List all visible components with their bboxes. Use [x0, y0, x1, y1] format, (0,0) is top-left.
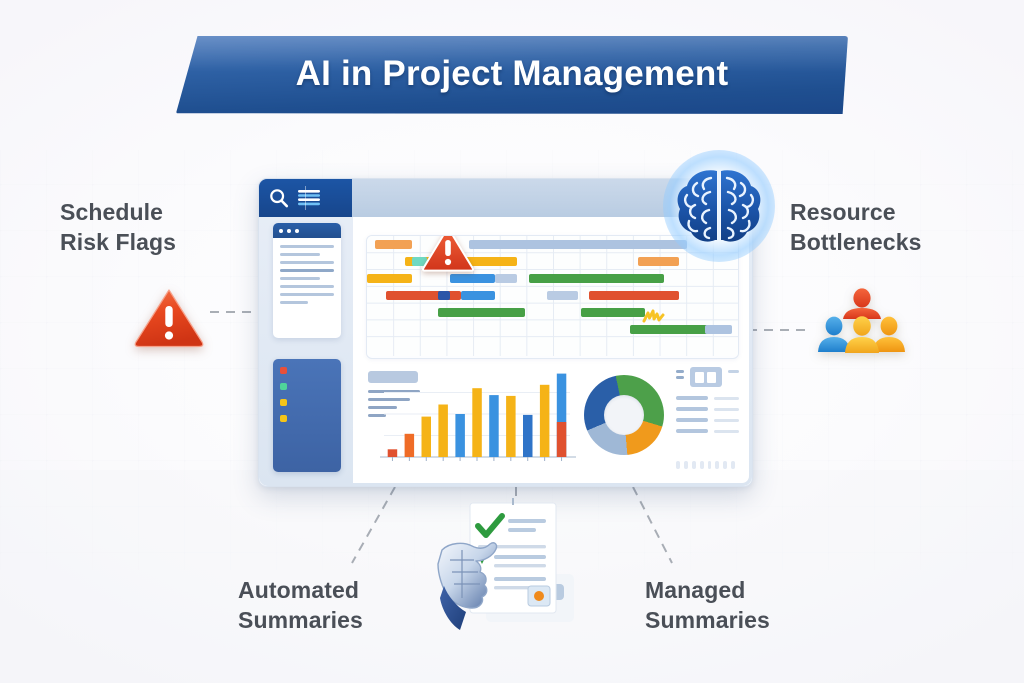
status-dot-yellow-icon	[280, 415, 287, 422]
people-group-icon	[817, 288, 907, 354]
callout-resource-bottlenecks: Resource Bottlenecks	[790, 197, 1005, 258]
text-line	[280, 293, 334, 296]
person-yellow	[845, 316, 879, 353]
bar[interactable]	[472, 388, 482, 457]
search-icon[interactable]	[268, 187, 290, 209]
warning-triangle-icon	[421, 235, 475, 272]
detail-mini-lines	[676, 367, 684, 382]
text-line	[280, 285, 334, 288]
callout-line-2: Summaries	[645, 605, 865, 635]
bar[interactable]	[438, 405, 448, 458]
status-row[interactable]	[280, 367, 334, 374]
detail-key	[676, 418, 708, 422]
detail-panel-header	[676, 367, 739, 387]
document-preview-card[interactable]	[273, 223, 341, 338]
badge-icon	[528, 586, 550, 606]
connector-managed-summaries	[633, 487, 672, 563]
status-row[interactable]	[280, 383, 334, 390]
detail-row	[676, 396, 739, 400]
callout-line-2: Risk Flags	[60, 227, 240, 257]
thumbnail-cell	[695, 372, 704, 383]
text-line	[676, 370, 684, 373]
footer-chip	[708, 461, 712, 469]
window-dot-icon	[279, 229, 283, 233]
text-line	[280, 245, 334, 248]
detail-value	[714, 419, 739, 422]
text-line	[280, 301, 308, 304]
ai-brain-badge	[663, 150, 775, 262]
gantt-bar[interactable]	[461, 291, 495, 300]
connector-automated-summaries	[352, 487, 395, 563]
text-line	[280, 277, 320, 280]
footer-chip	[715, 461, 719, 469]
bar[interactable]	[506, 396, 515, 457]
thumbnail-cell	[707, 372, 716, 383]
gantt-bar[interactable]	[581, 308, 645, 317]
gantt-bar[interactable]	[438, 308, 524, 317]
topbar-divider	[305, 186, 306, 210]
callout-line-2: Summaries	[238, 605, 458, 635]
gantt-bar[interactable]	[705, 325, 731, 334]
page-title: AI in Project Management	[176, 36, 848, 114]
detail-thumbnail	[690, 367, 722, 387]
page-title-banner: AI in Project Management	[176, 36, 848, 114]
detail-value	[714, 408, 739, 411]
person-red	[843, 288, 881, 319]
gantt-bar[interactable]	[367, 274, 412, 283]
dashboard-lower-row	[366, 365, 739, 475]
text-line	[280, 253, 320, 256]
text-line	[676, 376, 684, 379]
summary-detail-panel[interactable]	[676, 367, 739, 469]
detail-mini-lines	[728, 367, 739, 376]
gantt-bar[interactable]	[589, 291, 679, 300]
donut-center	[604, 395, 644, 435]
gantt-bar[interactable]	[529, 274, 664, 283]
card-body	[273, 238, 341, 304]
status-row[interactable]	[280, 415, 334, 422]
hamburger-menu-icon[interactable]	[297, 189, 321, 207]
person-blue	[818, 317, 850, 352]
footer-chip	[692, 461, 696, 469]
window-dot-icon	[295, 229, 299, 233]
callout-line-2: Bottlenecks	[790, 227, 1005, 257]
bar[interactable]	[405, 434, 415, 457]
detail-row	[676, 418, 739, 422]
detail-row	[676, 407, 739, 411]
status-donut-chart[interactable]	[580, 371, 668, 463]
footer-chip	[700, 461, 704, 469]
detail-panel-footer	[676, 461, 735, 469]
callout-line-1: Resource	[790, 199, 896, 225]
resource-bar-chart[interactable]	[366, 365, 576, 473]
gantt-bar[interactable]	[495, 274, 518, 283]
gantt-bar[interactable]	[386, 291, 461, 300]
callout-schedule-risk-flags: Schedule Risk Flags	[60, 197, 240, 258]
footer-chip	[676, 461, 680, 469]
bar[interactable]	[422, 417, 432, 457]
bar[interactable]	[455, 414, 465, 457]
detail-value	[714, 397, 739, 400]
poster-canvas: AI in Project Management	[0, 0, 1024, 683]
text-line	[280, 269, 334, 272]
callout-managed-summaries: Managed Summaries	[645, 575, 865, 636]
donut-ring	[584, 375, 664, 455]
gantt-bar[interactable]	[450, 274, 495, 283]
warning-triangle-icon	[133, 287, 205, 349]
topbar-accent-block	[259, 179, 352, 217]
ai-brain-icon	[663, 150, 775, 262]
bar[interactable]	[540, 385, 550, 457]
detail-key	[676, 429, 708, 433]
footer-chip	[731, 461, 735, 469]
window-dot-icon	[287, 229, 291, 233]
text-line	[728, 370, 739, 373]
callout-line-1: Managed	[645, 577, 745, 603]
detail-key	[676, 396, 708, 400]
detail-key	[676, 407, 708, 411]
bar-stack-segment[interactable]	[557, 422, 567, 457]
callout-line-1: Schedule	[60, 199, 163, 225]
footer-chip	[723, 461, 727, 469]
callout-automated-summaries: Automated Summaries	[238, 575, 458, 636]
bar[interactable]	[388, 449, 398, 457]
status-dot-yellow-icon	[280, 399, 287, 406]
status-dot-red-icon	[280, 367, 287, 374]
gantt-bar[interactable]	[630, 325, 713, 334]
gantt-bar[interactable]	[438, 291, 449, 300]
bar[interactable]	[489, 395, 499, 457]
task-status-panel[interactable]	[273, 359, 341, 472]
gantt-bar[interactable]	[547, 291, 577, 300]
bar-chart-plot	[366, 365, 576, 473]
gantt-bar[interactable]	[469, 240, 687, 249]
detail-row	[676, 429, 739, 433]
callout-line-1: Automated	[238, 577, 359, 603]
sparkle-icon	[640, 308, 666, 326]
window-sidebar	[267, 223, 347, 476]
bar[interactable]	[523, 415, 533, 457]
text-line	[280, 261, 334, 264]
detail-value	[714, 430, 739, 433]
footer-chip	[684, 461, 688, 469]
card-titlebar	[273, 223, 341, 238]
status-dot-green-icon	[280, 383, 287, 390]
status-row[interactable]	[280, 399, 334, 406]
gantt-bar[interactable]	[375, 240, 413, 249]
